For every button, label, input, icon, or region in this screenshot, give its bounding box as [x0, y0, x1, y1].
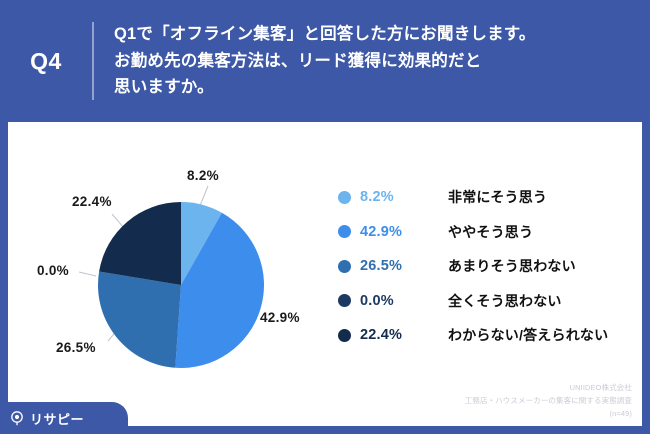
legend-label-1: ややそう思う	[448, 222, 533, 242]
pie-slice-2[interactable]	[98, 272, 181, 368]
legend-percent-0: 8.2%	[360, 189, 422, 205]
legend-dot-icon-0	[338, 191, 351, 204]
pie-chart-area: 8.2% 42.9% 26.5% 0.0% 22.4%	[8, 122, 338, 426]
credit-survey: 工務店・ハウスメーカーの集客に関する実態調査	[465, 395, 632, 408]
brand-logo[interactable]: リサピー	[0, 402, 128, 434]
legend-percent-3: 0.0%	[360, 293, 422, 309]
legend-label-0: 非常にそう思う	[448, 187, 547, 207]
credit-sample-size: (n=49)	[465, 408, 632, 421]
legend-label-3: 全くそう思わない	[448, 291, 562, 311]
question-header: Q4 Q1で「オフライン集客」と回答した方にお聞きします。 お勤め先の集客方法は…	[0, 0, 650, 122]
pie-slices	[98, 202, 264, 368]
legend-item-4[interactable]: 22.4% わからない/答えられない	[338, 318, 642, 353]
question-text: Q1で「オフライン集客」と回答した方にお聞きします。 お勤め先の集客方法は、リー…	[94, 21, 536, 101]
legend-label-4: わからない/答えられない	[448, 325, 608, 345]
legend-percent-2: 26.5%	[360, 258, 422, 274]
callout-value-1: 42.9%	[260, 310, 300, 325]
credit-company: UNIIDEO株式会社	[465, 382, 632, 395]
legend-item-3[interactable]: 0.0% 全くそう思わない	[338, 284, 642, 319]
callout-value-4: 22.4%	[72, 194, 112, 209]
callout-value-2: 26.5%	[56, 340, 96, 355]
callout-value-3: 0.0%	[37, 263, 69, 278]
question-line-3: 思いますか。	[114, 74, 536, 101]
legend-dot-icon-2	[338, 260, 351, 273]
chart-legend: 8.2% 非常にそう思う 42.9% ややそう思う 26.5% あまりそう思わな…	[338, 180, 642, 353]
question-line-2: お勤め先の集客方法は、リード獲得に効果的だと	[114, 48, 536, 75]
search-pin-icon	[10, 411, 25, 426]
legend-item-1[interactable]: 42.9% ややそう思う	[338, 215, 642, 250]
legend-dot-icon-1	[338, 225, 351, 238]
legend-item-0[interactable]: 8.2% 非常にそう思う	[338, 180, 642, 215]
source-credit: UNIIDEO株式会社 工務店・ハウスメーカーの集客に関する実態調査 (n=49…	[465, 382, 632, 421]
legend-dot-icon-3	[338, 294, 351, 307]
legend-percent-1: 42.9%	[360, 224, 422, 240]
content-card: 8.2% 42.9% 26.5% 0.0% 22.4% 8.2% 非常にそう思う…	[8, 122, 642, 426]
legend-percent-4: 22.4%	[360, 327, 422, 343]
brand-logo-text: リサピー	[30, 409, 84, 428]
legend-label-2: あまりそう思わない	[448, 256, 576, 276]
pie-slice-4[interactable]	[99, 202, 181, 285]
question-number: Q4	[0, 48, 92, 75]
callout-value-0: 8.2%	[187, 168, 219, 183]
legend-item-2[interactable]: 26.5% あまりそう思わない	[338, 249, 642, 284]
slide-root: Q4 Q1で「オフライン集客」と回答した方にお聞きします。 お勤め先の集客方法は…	[0, 0, 650, 434]
question-line-1: Q1で「オフライン集客」と回答した方にお聞きします。	[114, 21, 536, 48]
legend-dot-icon-4	[338, 329, 351, 342]
